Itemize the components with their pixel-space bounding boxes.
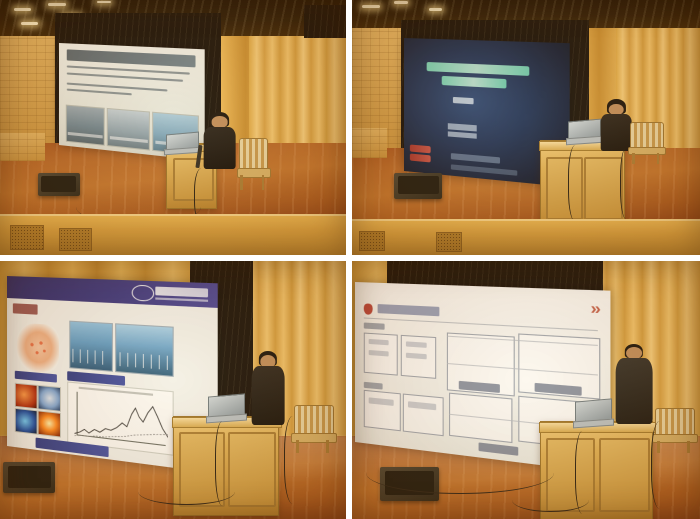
panel-top-right [352, 0, 700, 255]
ceiling-light [394, 1, 408, 4]
slide-text-line [67, 89, 132, 96]
slide-affiliation-2 [448, 132, 477, 140]
china-map-graphic [16, 323, 59, 375]
slide-subhead [364, 322, 384, 329]
stage-left-desk [352, 128, 387, 159]
stage-monitor-speaker [394, 173, 443, 199]
diagram-node [406, 341, 427, 347]
laptop [166, 133, 197, 153]
slide-thumbnail [14, 408, 37, 435]
stage-apron [352, 219, 700, 255]
slide-brand-header [7, 276, 217, 308]
diagram-block [364, 390, 400, 432]
diagram-node [369, 350, 390, 356]
chevron-right-icon: » [591, 299, 599, 319]
panel-bottom-right: » [352, 261, 700, 519]
offshore-wind-photo [115, 324, 174, 378]
slide-thumbnail [38, 385, 62, 412]
slide-text-line [67, 72, 183, 81]
slide-title [378, 303, 439, 316]
overhead-panel [304, 5, 346, 38]
slide-logo-icon [364, 303, 373, 315]
chart-note [78, 387, 153, 396]
podium-cable [568, 145, 586, 222]
slide-footer-logo [410, 145, 430, 153]
ceiling-light [97, 1, 111, 3]
podium-panel [584, 157, 623, 220]
laptop [208, 395, 243, 421]
podium-cable [575, 431, 593, 514]
panel-bottom-left [0, 261, 346, 519]
ceiling-light [362, 5, 379, 8]
slide-thumbnail [14, 383, 37, 410]
slide-section-title [13, 304, 38, 316]
photo-top-right [352, 0, 700, 255]
ceiling-light [48, 3, 65, 6]
laptop [575, 400, 610, 426]
photo-collage: » [0, 0, 700, 519]
photo-bottom-left [0, 261, 346, 519]
chair-leg [262, 175, 264, 189]
speaker-person [201, 112, 239, 171]
stage-monitor-speaker [38, 173, 80, 196]
stage-monitor-speaker [3, 462, 55, 493]
chair-back [239, 138, 269, 172]
slide-subtitle-left [14, 371, 57, 383]
diagram-block [404, 393, 445, 436]
speaker-person [613, 344, 655, 427]
chair-leg [687, 441, 690, 453]
ceiling-light [14, 8, 31, 11]
chart-series-line [74, 396, 168, 449]
diagram-node [369, 338, 390, 344]
podium-cable [284, 416, 306, 504]
speaker-torso [252, 366, 285, 424]
podium-cable [620, 148, 635, 219]
slide-footer-text [451, 154, 500, 164]
speaker-torso [616, 358, 653, 424]
speaker-person [249, 351, 287, 426]
panel-top-left [0, 0, 346, 255]
slide-title-line-2 [441, 76, 506, 89]
podium-panel [599, 438, 650, 513]
speaker-torso [203, 127, 236, 169]
chair-leg [657, 153, 660, 164]
stage-chair [630, 122, 661, 163]
podium-cable [651, 421, 673, 509]
slide-footer-subtext [451, 165, 517, 177]
chair-leg [326, 440, 329, 453]
chair-back [630, 122, 663, 149]
speaker-torso [601, 114, 632, 151]
wind-farm-photo [69, 321, 112, 373]
diagram-node [406, 352, 427, 359]
slide-photo [107, 109, 150, 151]
podium-panel [228, 432, 276, 507]
podium-cable [215, 421, 233, 506]
university-name-en [156, 297, 208, 302]
stage-chair [239, 138, 267, 189]
ceiling-light [21, 22, 38, 25]
apron-vent [10, 225, 43, 249]
photo-top-left [0, 0, 346, 255]
slide-divider [364, 317, 598, 331]
stage-left-desk [0, 133, 45, 161]
university-emblem-icon [132, 285, 154, 303]
slide-subhead [364, 382, 382, 389]
slide-title-bar [67, 50, 196, 68]
slide-thumbnail [38, 411, 62, 438]
speaker-person [599, 99, 634, 153]
photo-bottom-right: » [352, 261, 700, 519]
ceiling-light [429, 8, 443, 10]
chair-leg [240, 175, 242, 189]
apron-vent [59, 228, 92, 251]
slide-affiliation-1 [448, 124, 477, 132]
floor-cable [366, 452, 554, 494]
apron-vent [436, 232, 462, 252]
slide-title-line-1 [427, 62, 529, 76]
slide-presenter-name [453, 97, 474, 104]
stage-apron [0, 214, 346, 255]
slide-photo [66, 105, 105, 146]
apron-vent [359, 231, 385, 252]
laptop [568, 120, 599, 143]
slide-footer-logo [410, 154, 430, 163]
